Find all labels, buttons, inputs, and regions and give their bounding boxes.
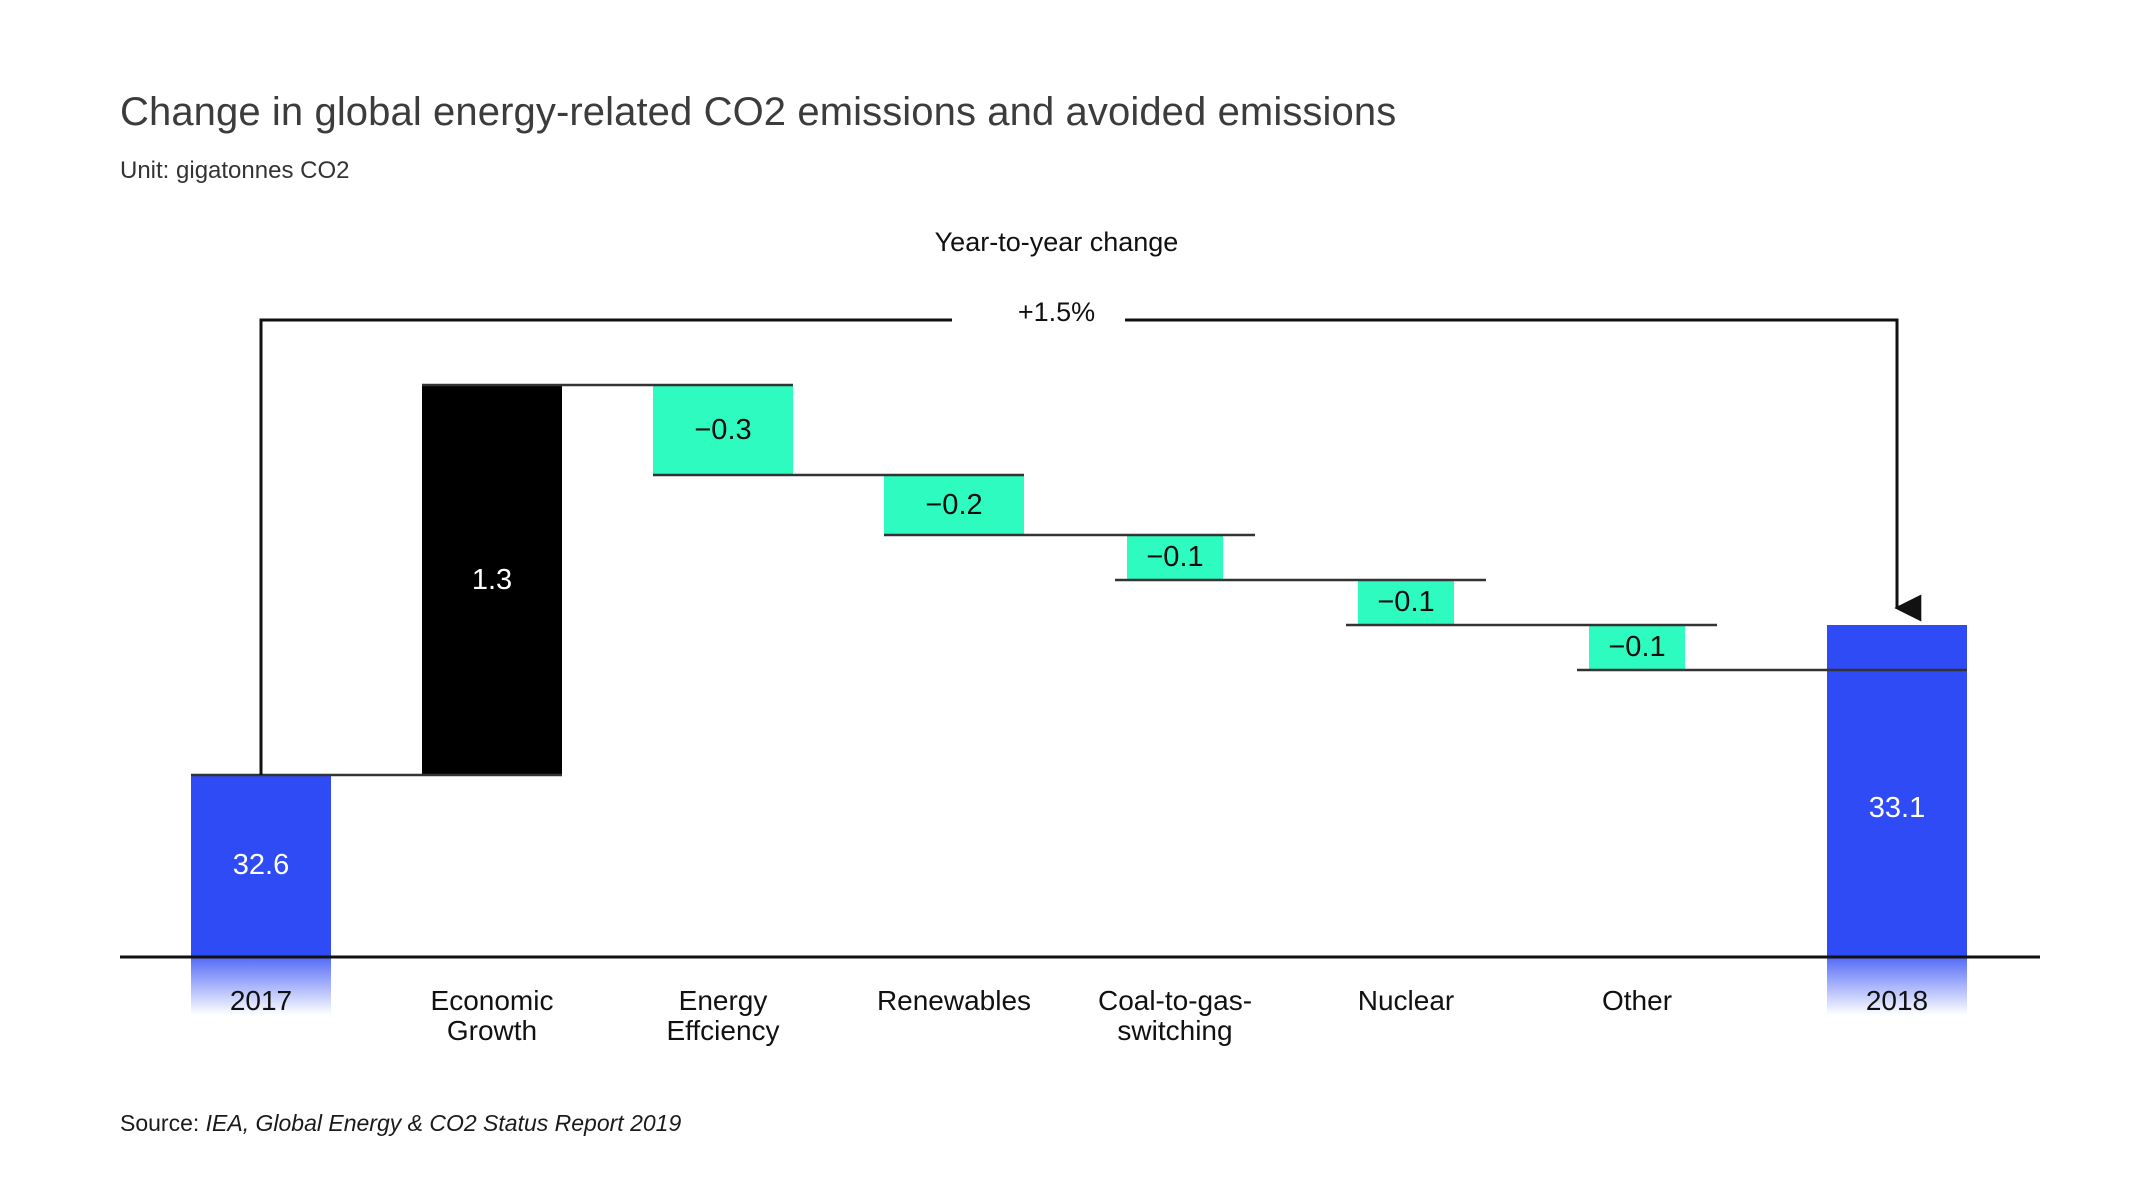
bar-coal-to-gas-switching[interactable] [1127,535,1223,580]
chart-svg [0,0,2133,1200]
category-label-renewables: Renewables [854,986,1054,1016]
category-label-economic-growth: Economic Growth [392,986,592,1046]
chart-page: Change in global energy-related CO2 emis… [0,0,2133,1200]
bar-nuclear[interactable] [1358,580,1454,625]
category-label-2017: 2017 [161,986,361,1016]
bar-renewables[interactable] [884,475,1024,535]
bar-2018[interactable] [1827,625,1967,957]
category-label-other: Other [1537,986,1737,1016]
source-note: Source: IEA, Global Energy & CO2 Status … [120,1110,681,1137]
waterfall-chart: 32.6 1.3 −0.3 −0.2 −0.1 −0.1 −0.1 33.1 Y… [0,0,2133,1200]
category-label-nuclear: Nuclear [1306,986,1506,1016]
bar-economic-growth[interactable] [422,385,562,775]
source-prefix: Source: [120,1110,206,1136]
category-label-coal-to-gas-switching: Coal-to-gas- switching [1075,986,1275,1046]
category-label-energy-efficiency: Energy Effciency [623,986,823,1046]
bar-energy-efficiency[interactable] [653,385,793,475]
bar-other[interactable] [1589,625,1685,670]
category-label-2018: 2018 [1797,986,1997,1016]
source-reference: IEA, Global Energy & CO2 Status Report 2… [206,1110,682,1136]
bar-2017[interactable] [191,775,331,957]
